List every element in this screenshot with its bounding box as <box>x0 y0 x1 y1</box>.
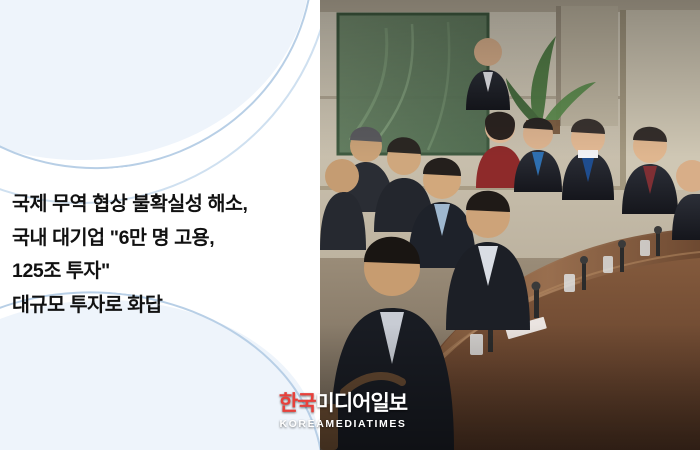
watermark: 한국미디어일보 KOREAMEDIATIMES <box>228 392 458 430</box>
watermark-korean-highlight: 한국 <box>279 392 316 415</box>
decorative-arc-line-inner <box>0 0 320 191</box>
headline-text: 국제 무역 협상 불확실성 해소, 국내 대기업 "6만 명 고용, 125조 … <box>12 188 312 322</box>
watermark-english: KOREAMEDIATIMES <box>228 418 458 430</box>
meeting-room-illustration <box>320 0 700 450</box>
news-photo <box>320 0 700 450</box>
decorative-arc-fill-top <box>0 0 310 160</box>
watermark-korean-rest: 미디어일보 <box>316 392 408 415</box>
news-card: 국제 무역 협상 불확실성 해소, 국내 대기업 "6만 명 고용, 125조 … <box>0 0 700 450</box>
watermark-korean: 한국미디어일보 <box>228 392 458 416</box>
headline-panel: 국제 무역 협상 불확실성 해소, 국내 대기업 "6만 명 고용, 125조 … <box>0 0 320 450</box>
